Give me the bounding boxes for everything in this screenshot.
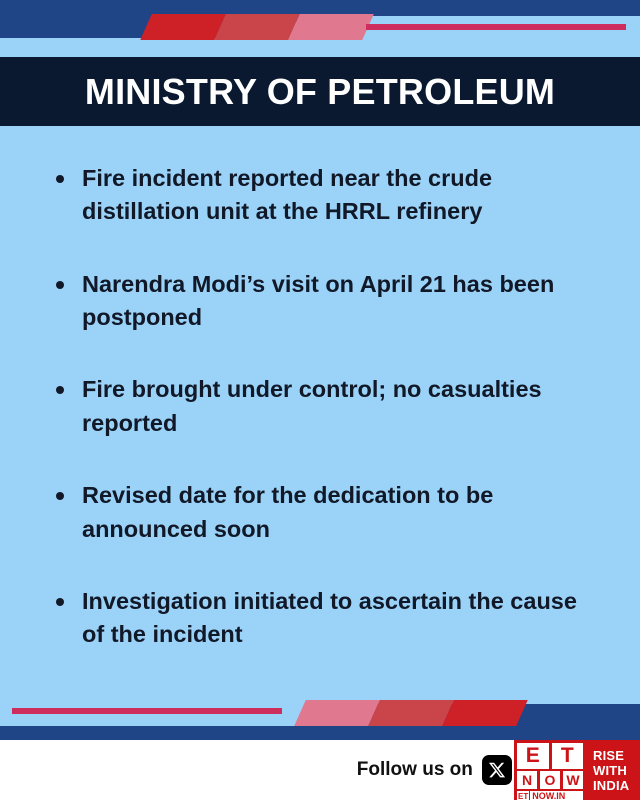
logo-letter-w: W <box>563 771 583 789</box>
logo-letter-o: O <box>540 771 560 789</box>
top-accent-bar-pink <box>288 14 374 40</box>
logo-letter-n: N <box>517 771 537 789</box>
tagline-line-1: RISE <box>593 748 640 763</box>
bullet-dot-icon <box>56 281 64 289</box>
bullet-dot-icon <box>56 386 64 394</box>
tagline-line-3: INDIA <box>593 778 640 793</box>
x-twitter-icon[interactable] <box>482 755 512 785</box>
follow-label: Follow us on <box>357 759 473 781</box>
infographic-card: MINISTRY OF PETROLEUM Fire incident repo… <box>0 0 640 800</box>
etnow-website-url: ET NOW.IN <box>517 791 583 800</box>
top-decorative-banner <box>0 0 640 57</box>
page-title: MINISTRY OF PETROLEUM <box>85 71 555 113</box>
etnow-logo[interactable]: E T N O W ET NOW.IN RISE WITH INDIA <box>514 740 640 800</box>
list-item: Revised date for the dedication to be an… <box>50 479 596 546</box>
title-bar: MINISTRY OF PETROLEUM <box>0 57 640 126</box>
top-accent-rule <box>366 24 626 30</box>
bottom-accent-rule <box>12 708 282 714</box>
etnow-letters-et: E T <box>517 743 583 769</box>
list-item-text: Revised date for the dedication to be an… <box>82 482 493 541</box>
bullet-dot-icon <box>56 175 64 183</box>
logo-letter-e: E <box>517 743 549 769</box>
bullet-dot-icon <box>56 492 64 500</box>
top-accent-bar-mid <box>214 14 300 40</box>
list-item-text: Narendra Modi’s visit on April 21 has be… <box>82 271 554 330</box>
bullet-list: Fire incident reported near the crude di… <box>50 162 596 652</box>
logo-letter-t: T <box>552 743 584 769</box>
list-item-text: Fire brought under control; no casualtie… <box>82 376 542 435</box>
tagline-line-2: WITH <box>593 763 640 778</box>
list-item-text: Fire incident reported near the crude di… <box>82 165 492 224</box>
bullet-dot-icon <box>56 598 64 606</box>
list-item: Narendra Modi’s visit on April 21 has be… <box>50 268 596 335</box>
bullet-body: Fire incident reported near the crude di… <box>0 126 640 694</box>
list-item: Fire incident reported near the crude di… <box>50 162 596 229</box>
list-item: Investigation initiated to ascertain the… <box>50 585 596 652</box>
logo-url-prefix: ET <box>517 791 529 800</box>
etnow-letters-now: N O W <box>517 771 583 789</box>
logo-url-main: NOW.IN <box>530 791 583 800</box>
etnow-tagline: RISE WITH INDIA <box>586 740 640 800</box>
bottom-accent-bar-red <box>442 700 528 726</box>
bottom-accent-bar-mid <box>368 700 454 726</box>
bottom-decorative-banner <box>0 694 640 740</box>
list-item: Fire brought under control; no casualtie… <box>50 373 596 440</box>
list-item-text: Investigation initiated to ascertain the… <box>82 588 577 647</box>
bottom-navy-strip <box>0 726 640 740</box>
etnow-logo-mark: E T N O W ET NOW.IN <box>514 740 586 800</box>
bottom-accent-bar-pink <box>294 700 380 726</box>
top-accent-bar-red <box>140 14 226 40</box>
